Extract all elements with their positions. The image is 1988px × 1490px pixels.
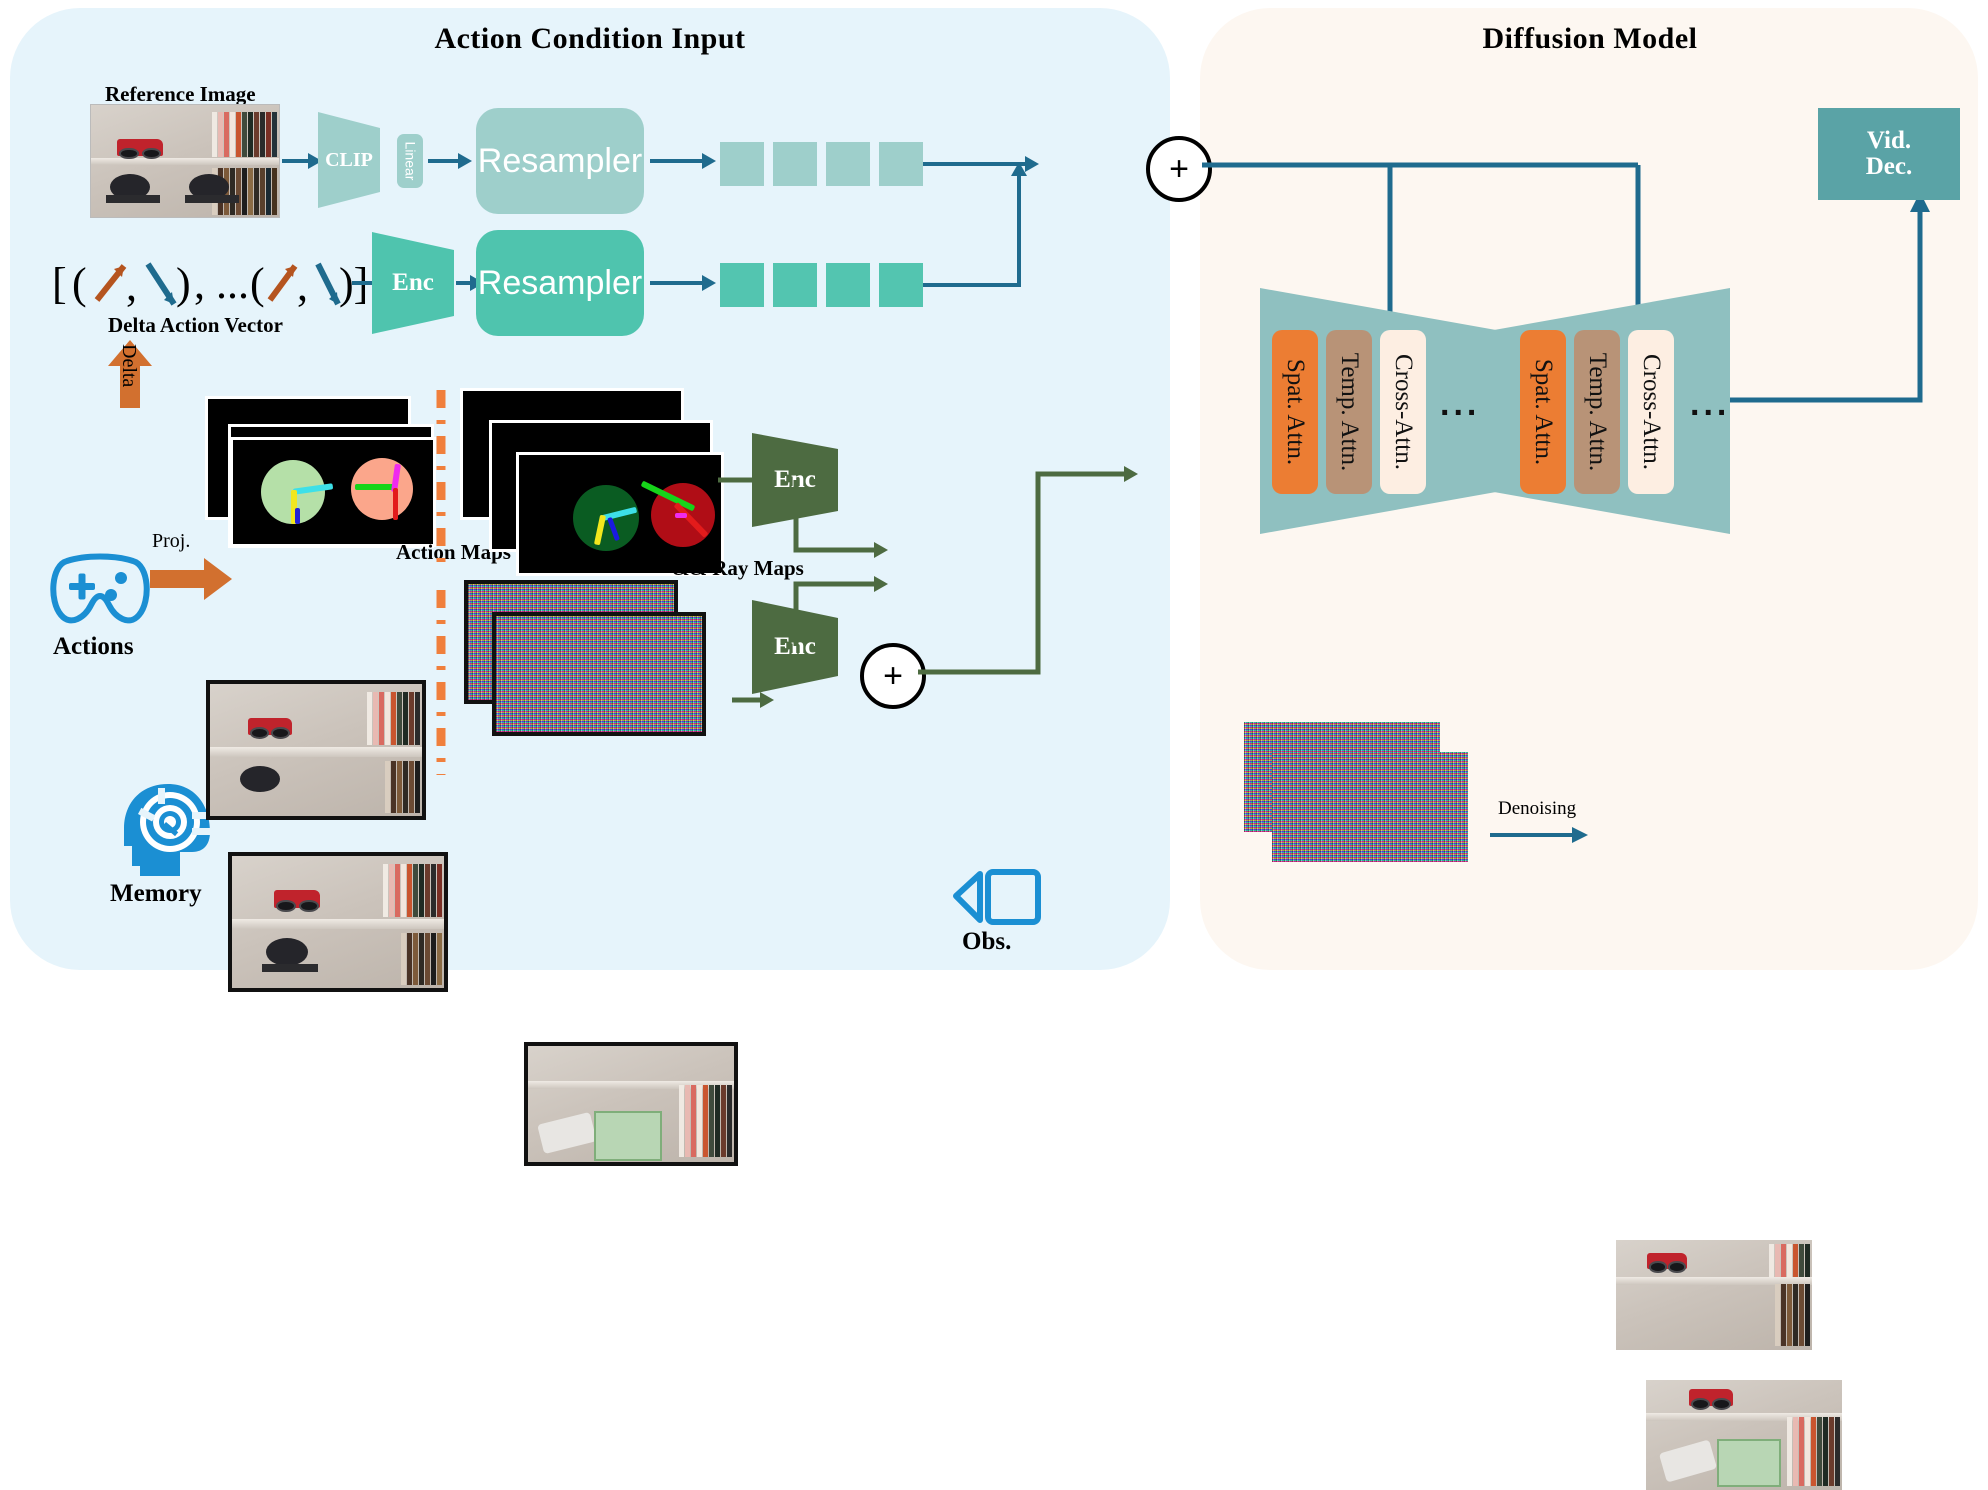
left-panel-title: Action Condition Input (240, 22, 940, 56)
action-enc-label: Enc (372, 232, 454, 334)
arrow-resampler2-to-action-tokens (650, 270, 716, 296)
spat-attn-left[interactable]: Spat. Attn. (1272, 330, 1318, 494)
arrow-enc-obs-to-sum (792, 560, 902, 646)
resampler-action-block: Resampler (476, 230, 644, 336)
denoise-output-frame-back (1616, 1240, 1812, 1350)
memory-frame-front (228, 852, 448, 992)
proj-arrow (150, 558, 232, 600)
obs-noise-frame-mid (492, 612, 706, 736)
vid-dec-line2: Dec. (1866, 154, 1913, 180)
video-decoder-block: Vid. Dec. (1818, 108, 1960, 200)
resampler-image-block: Resampler (476, 108, 644, 214)
svg-text:,: , (126, 261, 137, 310)
action-token-1 (720, 263, 764, 307)
arrow-enc-raymap-to-sum (792, 480, 902, 566)
delta-action-vector-label: Delta Action Vector (108, 313, 283, 338)
actions-label: Actions (53, 633, 134, 661)
arrow-ref-to-clip (282, 148, 322, 174)
arrow-linear-to-resampler (428, 148, 472, 174)
sum-node-lower: + (860, 643, 926, 709)
linear-label: Linear (402, 142, 418, 181)
action-enc-block: Enc (372, 232, 454, 334)
spat-attn-right-label: Spat. Attn. (1529, 359, 1557, 465)
clip-label: CLIP (318, 112, 380, 208)
unet-left-ellipsis: ... (1440, 385, 1480, 424)
linear-projection-block: Linear (397, 134, 423, 188)
memory-brain-icon (118, 780, 218, 880)
delta-action-vector-expression: [ ( , ) , ... ( , )] (52, 248, 352, 318)
reference-image-thumb (90, 104, 280, 218)
denoise-input-frame-front (1272, 752, 1468, 862)
svg-text:, ...: , ... (194, 259, 249, 308)
cross-attn-right-label: Cross-Attn. (1637, 354, 1665, 470)
spat-attn-right[interactable]: Spat. Attn. (1520, 330, 1566, 494)
spat-attn-left-label: Spat. Attn. (1281, 359, 1309, 465)
vid-dec-line1: Vid. (1867, 128, 1911, 154)
action-token-2 (773, 263, 817, 307)
ray-maps-label: && Ray Maps (672, 556, 804, 581)
svg-text:(: ( (72, 259, 87, 308)
denoising-label: Denoising (1498, 798, 1576, 820)
camera-icon (950, 868, 1042, 926)
cross-attn-right[interactable]: Cross-Attn. (1628, 330, 1674, 494)
memory-label: Memory (110, 880, 202, 908)
svg-text:(: ( (250, 259, 265, 308)
cross-attn-left-label: Cross-Attn. (1389, 354, 1417, 470)
gamepad-icon (45, 545, 155, 627)
temp-attn-left[interactable]: Temp. Attn. (1326, 330, 1372, 494)
svg-text:,: , (297, 261, 308, 310)
right-panel-title: Diffusion Model (1240, 22, 1940, 56)
arrow-sum-to-unet (918, 460, 1138, 675)
denoising-arrow (1490, 824, 1588, 846)
temp-attn-left-label: Temp. Attn. (1335, 353, 1363, 471)
action-token-3 (826, 263, 870, 307)
unet-right-ellipsis: ... (1690, 385, 1730, 424)
image-token-2 (773, 142, 817, 186)
image-token-3 (826, 142, 870, 186)
arrow-resampler-to-image-tokens (650, 148, 716, 174)
obs-clean-frame-front (524, 1042, 738, 1166)
obs-label: Obs. (962, 928, 1011, 956)
divider-dashed-bottom (436, 590, 446, 775)
clip-encoder-block: CLIP (318, 112, 380, 208)
denoise-output-frame-front (1646, 1380, 1842, 1490)
arrow-action-tokens-to-sum (923, 160, 1043, 290)
delta-text: Delta (117, 344, 140, 387)
cross-attn-left[interactable]: Cross-Attn. (1380, 330, 1426, 494)
svg-text:): ) (176, 259, 191, 308)
temp-attn-right[interactable]: Temp. Attn. (1574, 330, 1620, 494)
action-token-4 (879, 263, 923, 307)
memory-frame-back (206, 680, 426, 820)
image-token-1 (720, 142, 764, 186)
action-map-frame-front (230, 437, 436, 547)
proj-label: Proj. (152, 530, 190, 553)
image-token-4 (879, 142, 923, 186)
delta-arrow-label: Delta (140, 344, 183, 367)
temp-attn-right-label: Temp. Attn. (1583, 353, 1611, 471)
svg-text:[: [ (52, 259, 67, 308)
divider-dashed-top (436, 390, 446, 570)
